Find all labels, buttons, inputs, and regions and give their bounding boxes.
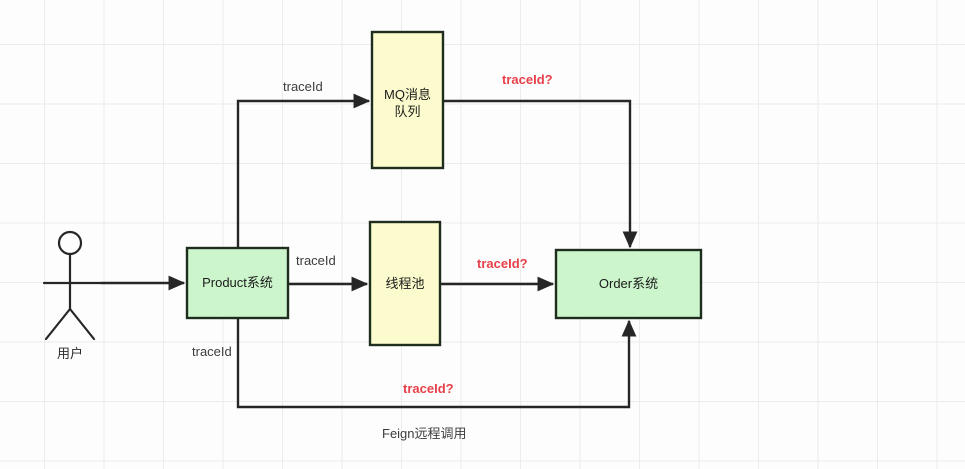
actor-head-icon — [59, 232, 81, 254]
node-threadpool-box[interactable] — [370, 222, 440, 345]
diagram-svg — [0, 0, 965, 469]
feign-caption: Feign远程调用 — [382, 423, 467, 442]
user-actor-label: 用户 — [45, 343, 95, 362]
node-product-box[interactable] — [187, 248, 288, 318]
edge-label-product-to-threadpool: traceId — [296, 253, 336, 268]
diagram-canvas: MQ消息 队列 线程池 Product系统 Order系统 用户 traceId… — [0, 0, 965, 469]
edge-product-to-mq — [238, 101, 369, 248]
edge-label-product-feign-start: traceId — [192, 344, 232, 359]
actor-left-leg-line — [46, 309, 70, 339]
edge-label-product-to-mq: traceId — [283, 79, 323, 94]
edge-label-product-to-order-feign: traceId? — [403, 381, 454, 396]
edge-mq-to-order — [443, 101, 630, 247]
edge-label-threadpool-to-order: traceId? — [477, 256, 528, 271]
node-order-box[interactable] — [556, 250, 701, 318]
edge-label-mq-to-order: traceId? — [502, 72, 553, 87]
node-mq-box[interactable] — [372, 32, 443, 168]
actor-right-leg-line — [70, 309, 94, 339]
user-actor-figure — [44, 232, 101, 339]
